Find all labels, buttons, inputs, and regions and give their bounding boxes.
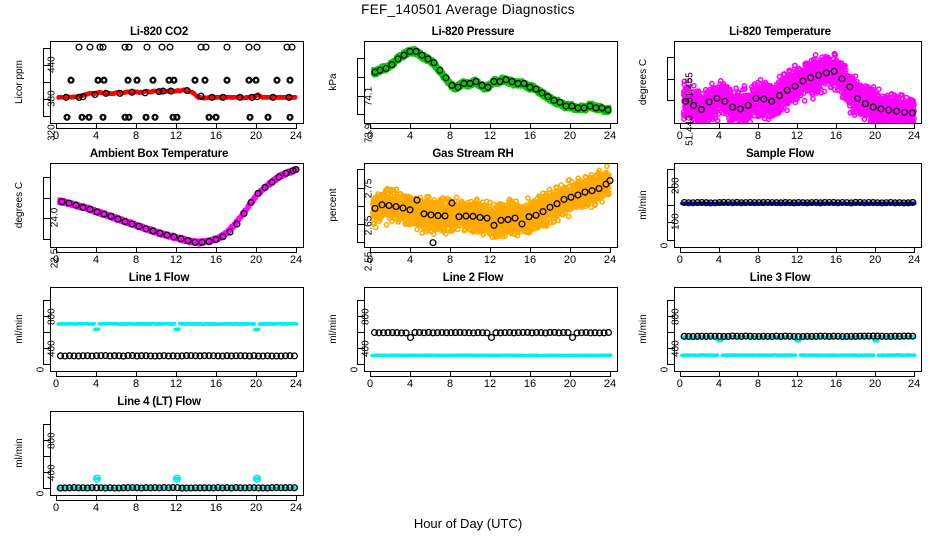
panel-line-3-flow: Line 3 Flow048121620240400800ml/min bbox=[630, 272, 930, 396]
x-tick-label-sample-flow-4: 16 bbox=[822, 254, 850, 266]
x-tick-label-sample-flow-1: 4 bbox=[705, 254, 733, 266]
y-tick-li820-co2-1 bbox=[43, 82, 50, 83]
y-tick-line-3-flow-0 bbox=[667, 364, 674, 365]
panel-line-4-lt-flow: Line 4 (LT) Flow048121620240400800ml/min bbox=[6, 396, 312, 520]
x-tick-label-line-2-flow-6: 24 bbox=[596, 378, 624, 390]
y-tick-gas-stream-rh-0 bbox=[357, 242, 364, 243]
plot-canvas-sample-flow bbox=[675, 164, 921, 247]
x-tick-li820-pressure-2 bbox=[450, 123, 451, 129]
x-tick-line-4-lt-flow-0 bbox=[56, 495, 57, 501]
y-tick-line-4-lt-flow-1 bbox=[43, 456, 50, 457]
x-tick-ambient-box-temperature-4 bbox=[216, 247, 217, 253]
x-tick-label-li820-co2-5: 20 bbox=[242, 130, 270, 142]
plot-area-li820-co2 bbox=[50, 41, 304, 124]
x-tick-label-gas-stream-rh-1: 4 bbox=[396, 254, 424, 266]
x-tick-line-4-lt-flow-6 bbox=[296, 495, 297, 501]
x-tick-label-line-2-flow-3: 12 bbox=[476, 378, 504, 390]
x-tick-label-li820-temperature-1: 4 bbox=[705, 130, 733, 142]
plot-canvas-line-1-flow bbox=[51, 288, 303, 371]
x-tick-line-1-flow-5 bbox=[256, 371, 257, 377]
x-tick-line-3-flow-6 bbox=[914, 371, 915, 377]
y-axis-label-sample-flow: ml/min bbox=[638, 190, 649, 219]
x-tick-label-line-4-lt-flow-3: 12 bbox=[162, 502, 190, 514]
y-axis-label-gas-stream-rh: percent bbox=[328, 188, 339, 221]
x-tick-label-li820-pressure-5: 20 bbox=[556, 130, 584, 142]
plot-area-line-2-flow bbox=[364, 287, 618, 372]
x-tick-label-line-2-flow-2: 8 bbox=[436, 378, 464, 390]
x-tick-line-4-lt-flow-5 bbox=[256, 495, 257, 501]
panel-title-li820-co2: Li-820 CO2 bbox=[6, 26, 312, 38]
y-tick-label-li820-temperature-1: 51.455 bbox=[685, 72, 696, 103]
x-tick-li820-temperature-2 bbox=[758, 123, 759, 129]
x-tick-label-gas-stream-rh-2: 8 bbox=[436, 254, 464, 266]
x-tick-label-line-4-lt-flow-2: 8 bbox=[122, 502, 150, 514]
y-tick-sample-flow-2 bbox=[667, 169, 674, 170]
y-axis-label-line-4-lt-flow: ml/min bbox=[14, 438, 25, 467]
x-tick-ambient-box-temperature-1 bbox=[96, 247, 97, 253]
y-tick-ambient-box-temperature-0 bbox=[43, 239, 50, 240]
x-tick-li820-co2-3 bbox=[176, 123, 177, 129]
y-tick-label-line-4-lt-flow-0: 0 bbox=[36, 490, 47, 496]
y-axis-label-li820-pressure: kPa bbox=[328, 73, 339, 90]
y-tick-label-line-4-lt-flow-2: 800 bbox=[47, 432, 58, 449]
y-axis-label-li820-temperature: degrees C bbox=[638, 58, 649, 104]
x-tick-line-3-flow-5 bbox=[875, 371, 876, 377]
panel-title-li820-pressure: Li-820 Pressure bbox=[320, 26, 626, 38]
x-tick-line-4-lt-flow-2 bbox=[136, 495, 137, 501]
x-tick-label-li820-co2-3: 12 bbox=[162, 130, 190, 142]
plot-area-line-3-flow bbox=[674, 287, 922, 372]
x-tick-gas-stream-rh-2 bbox=[450, 247, 451, 253]
y-tick-gas-stream-rh-1 bbox=[357, 206, 364, 207]
plot-canvas-li820-co2 bbox=[51, 42, 303, 123]
y-tick-li820-temperature-2 bbox=[667, 79, 674, 80]
x-tick-li820-pressure-4 bbox=[530, 123, 531, 129]
x-tick-label-ambient-box-temperature-4: 16 bbox=[202, 254, 230, 266]
x-tick-label-line-1-flow-3: 12 bbox=[162, 378, 190, 390]
x-tick-label-gas-stream-rh-3: 12 bbox=[476, 254, 504, 266]
y-tick-label-line-3-flow-2: 800 bbox=[671, 308, 682, 325]
y-tick-label-sample-flow-2: 200 bbox=[671, 178, 682, 195]
x-tick-sample-flow-5 bbox=[875, 247, 876, 253]
x-tick-label-li820-temperature-5: 20 bbox=[861, 130, 889, 142]
y-axis-label-line-2-flow: ml/min bbox=[328, 314, 339, 343]
x-tick-sample-flow-4 bbox=[836, 247, 837, 253]
x-tick-gas-stream-rh-5 bbox=[570, 247, 571, 253]
panel-title-gas-stream-rh: Gas Stream RH bbox=[320, 148, 626, 160]
x-tick-label-li820-co2-2: 8 bbox=[122, 130, 150, 142]
x-tick-label-sample-flow-5: 20 bbox=[861, 254, 889, 266]
x-tick-line-2-flow-0 bbox=[370, 371, 371, 377]
x-tick-label-li820-temperature-6: 24 bbox=[900, 130, 928, 142]
x-tick-li820-pressure-5 bbox=[570, 123, 571, 129]
x-tick-li820-pressure-6 bbox=[610, 123, 611, 129]
x-tick-label-li820-pressure-4: 16 bbox=[516, 130, 544, 142]
x-tick-label-li820-pressure-1: 4 bbox=[396, 130, 424, 142]
x-tick-label-li820-pressure-2: 8 bbox=[436, 130, 464, 142]
x-tick-ambient-box-temperature-2 bbox=[136, 247, 137, 253]
x-tick-label-li820-co2-1: 4 bbox=[82, 130, 110, 142]
y-axis-label-ambient-box-temperature: degrees C bbox=[14, 181, 25, 227]
y-tick-label-li820-co2-2: 440 bbox=[47, 56, 58, 73]
x-tick-li820-temperature-0 bbox=[680, 123, 681, 129]
plot-area-sample-flow bbox=[674, 163, 922, 248]
x-tick-label-sample-flow-3: 12 bbox=[783, 254, 811, 266]
x-tick-line-1-flow-2 bbox=[136, 371, 137, 377]
x-tick-gas-stream-rh-4 bbox=[530, 247, 531, 253]
panel-title-line-2-flow: Line 2 Flow bbox=[320, 272, 626, 284]
x-tick-li820-pressure-1 bbox=[410, 123, 411, 129]
y-tick-li820-co2-2 bbox=[43, 48, 50, 49]
x-tick-line-4-lt-flow-4 bbox=[216, 495, 217, 501]
x-tick-label-line-1-flow-0: 0 bbox=[42, 378, 70, 390]
y-tick-label-line-2-flow-1: 400 bbox=[361, 340, 372, 357]
x-tick-ambient-box-temperature-5 bbox=[256, 247, 257, 253]
y-axis-line-li820-pressure bbox=[357, 58, 358, 116]
x-tick-label-sample-flow-0: 0 bbox=[666, 254, 694, 266]
x-tick-sample-flow-3 bbox=[797, 247, 798, 253]
x-tick-label-line-1-flow-6: 24 bbox=[282, 378, 310, 390]
x-tick-label-ambient-box-temperature-2: 8 bbox=[122, 254, 150, 266]
y-tick-ambient-box-temperature-3 bbox=[43, 177, 50, 178]
panel-sample-flow: Sample Flow048121620240100200ml/min bbox=[630, 148, 930, 272]
x-tick-li820-temperature-5 bbox=[875, 123, 876, 129]
x-tick-li820-temperature-3 bbox=[797, 123, 798, 129]
plot-canvas-line-4-lt-flow bbox=[51, 412, 303, 495]
x-tick-line-3-flow-3 bbox=[797, 371, 798, 377]
x-tick-line-2-flow-2 bbox=[450, 371, 451, 377]
panel-li820-temperature: Li-820 Temperature0481216202451.44051.45… bbox=[630, 26, 930, 148]
x-tick-label-ambient-box-temperature-3: 12 bbox=[162, 254, 190, 266]
x-tick-line-4-lt-flow-3 bbox=[176, 495, 177, 501]
panel-line-2-flow: Line 2 Flow048121620240400800ml/min bbox=[320, 272, 626, 396]
y-tick-label-line-3-flow-1: 400 bbox=[671, 340, 682, 357]
y-tick-label-line-1-flow-0: 0 bbox=[36, 366, 47, 372]
panel-title-line-1-flow: Line 1 Flow bbox=[6, 272, 312, 284]
y-tick-label-gas-stream-rh-0: 2.55 bbox=[363, 251, 374, 270]
x-tick-label-line-1-flow-1: 4 bbox=[82, 378, 110, 390]
x-tick-gas-stream-rh-3 bbox=[490, 247, 491, 253]
panel-title-sample-flow: Sample Flow bbox=[630, 148, 930, 160]
x-tick-line-1-flow-4 bbox=[216, 371, 217, 377]
plot-canvas-line-2-flow bbox=[365, 288, 617, 371]
x-tick-label-line-3-flow-0: 0 bbox=[666, 378, 694, 390]
x-tick-sample-flow-1 bbox=[719, 247, 720, 253]
x-tick-sample-flow-2 bbox=[758, 247, 759, 253]
y-tick-line-3-flow-1 bbox=[667, 332, 674, 333]
x-tick-gas-stream-rh-1 bbox=[410, 247, 411, 253]
x-tick-li820-temperature-6 bbox=[914, 123, 915, 129]
plot-area-li820-temperature bbox=[674, 41, 922, 124]
plot-area-li820-pressure bbox=[364, 41, 618, 124]
x-tick-label-line-4-lt-flow-6: 24 bbox=[282, 502, 310, 514]
x-tick-label-li820-pressure-6: 24 bbox=[596, 130, 624, 142]
y-tick-sample-flow-0 bbox=[667, 240, 674, 241]
x-tick-sample-flow-0 bbox=[680, 247, 681, 253]
y-tick-label-li820-pressure-0: 73.9 bbox=[363, 124, 374, 143]
y-tick-label-sample-flow-1: 100 bbox=[671, 213, 682, 230]
plot-canvas-gas-stream-rh bbox=[365, 164, 617, 247]
panel-li820-pressure: Li-820 Pressure0481216202473.974.1kPa bbox=[320, 26, 626, 148]
y-tick-line-4-lt-flow-0 bbox=[43, 488, 50, 489]
panel-title-line-4-lt-flow: Line 4 (LT) Flow bbox=[6, 396, 312, 408]
y-tick-li820-pressure-3 bbox=[357, 58, 364, 59]
x-tick-label-line-1-flow-2: 8 bbox=[122, 378, 150, 390]
figure-title: FEF_140501 Average Diagnostics bbox=[0, 2, 936, 17]
panel-li820-co2: Li-820 CO204812162024320380440Licor ppm bbox=[6, 26, 312, 148]
x-tick-ambient-box-temperature-6 bbox=[296, 247, 297, 253]
x-tick-label-li820-temperature-4: 16 bbox=[822, 130, 850, 142]
x-tick-gas-stream-rh-6 bbox=[610, 247, 611, 253]
x-tick-label-line-3-flow-1: 4 bbox=[705, 378, 733, 390]
x-tick-line-2-flow-5 bbox=[570, 371, 571, 377]
x-tick-label-line-3-flow-2: 8 bbox=[744, 378, 772, 390]
panel-title-li820-temperature: Li-820 Temperature bbox=[630, 26, 930, 38]
plot-area-line-1-flow bbox=[50, 287, 304, 372]
x-tick-line-3-flow-2 bbox=[758, 371, 759, 377]
x-tick-label-li820-temperature-2: 8 bbox=[744, 130, 772, 142]
x-tick-label-sample-flow-2: 8 bbox=[744, 254, 772, 266]
y-axis-label-line-3-flow: ml/min bbox=[638, 314, 649, 343]
y-tick-label-li820-co2-1: 380 bbox=[47, 90, 58, 107]
y-tick-label-line-1-flow-1: 400 bbox=[47, 340, 58, 357]
x-tick-li820-pressure-3 bbox=[490, 123, 491, 129]
y-tick-label-gas-stream-rh-1: 2.65 bbox=[363, 215, 374, 234]
x-tick-label-line-3-flow-4: 16 bbox=[822, 378, 850, 390]
x-tick-label-line-2-flow-0: 0 bbox=[356, 378, 384, 390]
x-tick-label-gas-stream-rh-5: 20 bbox=[556, 254, 584, 266]
x-tick-line-1-flow-1 bbox=[96, 371, 97, 377]
x-tick-label-sample-flow-6: 24 bbox=[900, 254, 928, 266]
y-tick-label-ambient-box-temperature-1: 24.0 bbox=[49, 207, 60, 226]
plot-canvas-li820-pressure bbox=[365, 42, 617, 123]
x-tick-li820-co2-5 bbox=[256, 123, 257, 129]
y-tick-li820-pressure-1 bbox=[357, 77, 364, 78]
x-tick-li820-temperature-1 bbox=[719, 123, 720, 129]
y-axis-line-ambient-box-temperature bbox=[43, 177, 44, 240]
y-tick-sample-flow-1 bbox=[667, 205, 674, 206]
x-tick-label-line-2-flow-4: 16 bbox=[516, 378, 544, 390]
y-tick-ambient-box-temperature-1 bbox=[43, 198, 50, 199]
y-tick-li820-temperature-0 bbox=[667, 100, 674, 101]
y-axis-label-line-1-flow: ml/min bbox=[14, 314, 25, 343]
x-tick-label-gas-stream-rh-4: 16 bbox=[516, 254, 544, 266]
y-tick-line-2-flow-0 bbox=[357, 364, 364, 365]
x-tick-label-line-4-lt-flow-1: 4 bbox=[82, 502, 110, 514]
x-tick-line-1-flow-0 bbox=[56, 371, 57, 377]
x-tick-label-li820-co2-4: 16 bbox=[202, 130, 230, 142]
x-tick-line-3-flow-1 bbox=[719, 371, 720, 377]
panel-ambient-box-temperature: Ambient Box Temperature0481216202422.524… bbox=[6, 148, 312, 272]
x-tick-line-2-flow-4 bbox=[530, 371, 531, 377]
x-tick-li820-co2-2 bbox=[136, 123, 137, 129]
x-tick-li820-temperature-4 bbox=[836, 123, 837, 129]
plot-area-line-4-lt-flow bbox=[50, 411, 304, 496]
y-tick-label-ambient-box-temperature-0: 22.5 bbox=[49, 249, 60, 268]
x-tick-label-ambient-box-temperature-6: 24 bbox=[282, 254, 310, 266]
y-tick-line-3-flow-2 bbox=[667, 300, 674, 301]
x-tick-label-line-1-flow-5: 20 bbox=[242, 378, 270, 390]
x-tick-label-ambient-box-temperature-5: 20 bbox=[242, 254, 270, 266]
x-tick-li820-co2-6 bbox=[296, 123, 297, 129]
x-tick-li820-co2-4 bbox=[216, 123, 217, 129]
y-tick-line-2-flow-2 bbox=[357, 300, 364, 301]
y-tick-line-1-flow-1 bbox=[43, 332, 50, 333]
y-tick-gas-stream-rh-2 bbox=[357, 169, 364, 170]
y-tick-label-line-2-flow-0: 0 bbox=[350, 366, 361, 372]
x-tick-label-line-4-lt-flow-4: 16 bbox=[202, 502, 230, 514]
y-tick-label-li820-temperature-0: 51.440 bbox=[685, 116, 696, 147]
plot-canvas-li820-temperature bbox=[675, 42, 921, 123]
x-tick-line-2-flow-3 bbox=[490, 371, 491, 377]
x-tick-label-gas-stream-rh-6: 24 bbox=[596, 254, 624, 266]
y-axis-label-li820-co2: Licor ppm bbox=[14, 60, 25, 104]
x-tick-label-line-3-flow-3: 12 bbox=[783, 378, 811, 390]
y-tick-line-4-lt-flow-2 bbox=[43, 424, 50, 425]
panel-line-1-flow: Line 1 Flow048121620240400800ml/min bbox=[6, 272, 312, 396]
x-tick-label-line-3-flow-5: 20 bbox=[861, 378, 889, 390]
x-tick-line-3-flow-0 bbox=[680, 371, 681, 377]
panel-gas-stream-rh: Gas Stream RH048121620242.552.652.75perc… bbox=[320, 148, 626, 272]
x-tick-label-line-1-flow-4: 16 bbox=[202, 378, 230, 390]
x-tick-line-2-flow-1 bbox=[410, 371, 411, 377]
plot-canvas-line-3-flow bbox=[675, 288, 921, 371]
y-tick-label-line-3-flow-0: 0 bbox=[660, 366, 671, 372]
x-tick-label-line-4-lt-flow-0: 0 bbox=[42, 502, 70, 514]
x-tick-label-line-3-flow-6: 24 bbox=[900, 378, 928, 390]
y-tick-line-2-flow-1 bbox=[357, 332, 364, 333]
plot-canvas-ambient-box-temperature bbox=[51, 164, 303, 247]
x-tick-line-1-flow-3 bbox=[176, 371, 177, 377]
plot-area-ambient-box-temperature bbox=[50, 163, 304, 248]
y-tick-line-1-flow-2 bbox=[43, 300, 50, 301]
x-tick-li820-co2-1 bbox=[96, 123, 97, 129]
y-tick-label-li820-co2-0: 320 bbox=[47, 125, 58, 142]
y-tick-label-sample-flow-0: 0 bbox=[660, 242, 671, 248]
y-tick-line-1-flow-0 bbox=[43, 364, 50, 365]
x-tick-sample-flow-6 bbox=[914, 247, 915, 253]
plot-area-gas-stream-rh bbox=[364, 163, 618, 248]
x-tick-line-1-flow-6 bbox=[296, 371, 297, 377]
x-tick-label-li820-co2-6: 24 bbox=[282, 130, 310, 142]
y-tick-li820-temperature-1 bbox=[667, 57, 674, 58]
x-tick-label-li820-temperature-3: 12 bbox=[783, 130, 811, 142]
x-tick-label-li820-pressure-3: 12 bbox=[476, 130, 504, 142]
y-tick-li820-pressure-0 bbox=[357, 114, 364, 115]
y-tick-label-line-1-flow-2: 800 bbox=[47, 308, 58, 325]
panel-title-line-3-flow: Line 3 Flow bbox=[630, 272, 930, 284]
x-tick-line-3-flow-4 bbox=[836, 371, 837, 377]
x-tick-label-line-2-flow-1: 4 bbox=[396, 378, 424, 390]
y-tick-label-gas-stream-rh-2: 2.75 bbox=[363, 179, 374, 198]
y-tick-li820-co2-0 bbox=[43, 116, 50, 117]
x-tick-label-line-4-lt-flow-5: 20 bbox=[242, 502, 270, 514]
x-tick-ambient-box-temperature-3 bbox=[176, 247, 177, 253]
y-tick-label-line-2-flow-2: 800 bbox=[361, 308, 372, 325]
x-tick-line-2-flow-6 bbox=[610, 371, 611, 377]
y-tick-label-li820-pressure-1: 74.1 bbox=[363, 87, 374, 106]
x-tick-label-ambient-box-temperature-1: 4 bbox=[82, 254, 110, 266]
x-tick-label-line-2-flow-5: 20 bbox=[556, 378, 584, 390]
panel-title-ambient-box-temperature: Ambient Box Temperature bbox=[6, 148, 312, 160]
y-tick-label-line-4-lt-flow-1: 400 bbox=[47, 464, 58, 481]
x-tick-line-4-lt-flow-1 bbox=[96, 495, 97, 501]
